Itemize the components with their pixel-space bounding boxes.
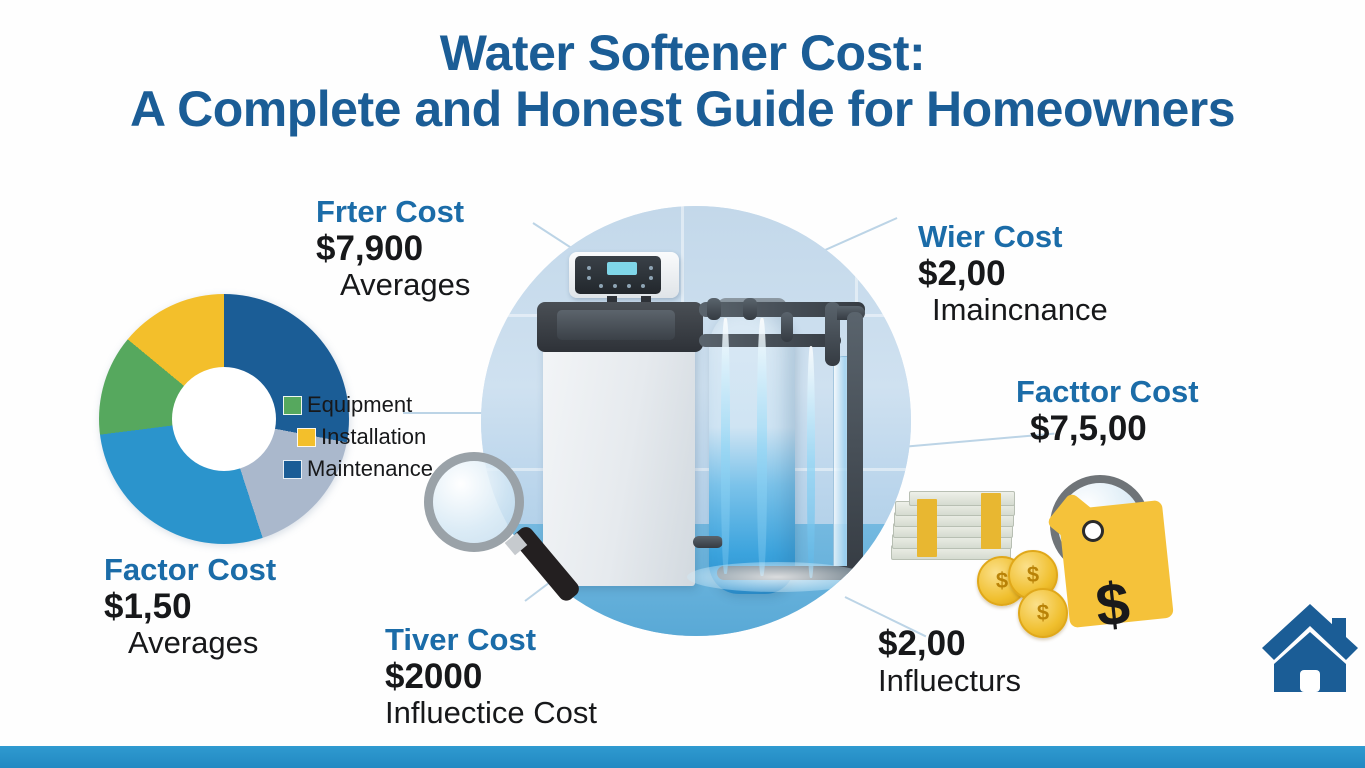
legend-label-installation: Installation bbox=[321, 424, 426, 450]
callout-heading: Wier Cost bbox=[918, 220, 1108, 255]
legend-swatch-equipment bbox=[283, 396, 302, 415]
callout-amount: $2,00 bbox=[918, 255, 1108, 294]
callout-tiver-cost: Tiver Cost $2000 Influectice Cost bbox=[385, 623, 597, 730]
callout-influencers-cost: $2,00 Influecturs bbox=[878, 625, 1021, 698]
callout-heading: Factor Cost bbox=[104, 553, 276, 588]
pipe-valve bbox=[743, 298, 757, 320]
control-led bbox=[649, 266, 653, 270]
legend-item-equipment: Equipment bbox=[283, 392, 433, 418]
title-line-1: Water Softener Cost: bbox=[0, 26, 1365, 80]
callout-amount: $2000 bbox=[385, 658, 597, 697]
title-line-2: A Complete and Honest Guide for Homeowne… bbox=[0, 80, 1365, 139]
control-button bbox=[599, 284, 603, 288]
legend-swatch-installation bbox=[297, 428, 316, 447]
callout-subtext: Influectice Cost bbox=[385, 696, 597, 730]
callout-amount: $7,5,00 bbox=[1016, 410, 1199, 449]
pipe-valve bbox=[693, 536, 723, 548]
callout-subtext: Influecturs bbox=[878, 664, 1021, 698]
callout-water-cost: Wier Cost $2,00 Imaincnance bbox=[918, 220, 1108, 327]
control-led bbox=[649, 276, 653, 280]
donut-center-hole bbox=[172, 367, 276, 471]
magnifier-lens bbox=[424, 452, 524, 552]
water-stream bbox=[757, 318, 767, 576]
callout-subtext: Averages bbox=[316, 268, 470, 302]
callout-heading: Tiver Cost bbox=[385, 623, 597, 658]
coin-dollar-sign: $ bbox=[996, 568, 1008, 594]
callout-subtext: Imaincnance bbox=[918, 293, 1108, 327]
callout-amount: $7,900 bbox=[316, 230, 470, 269]
control-led bbox=[587, 276, 591, 280]
control-led bbox=[587, 266, 591, 270]
gold-coin: $ bbox=[1018, 588, 1068, 638]
page-title: Water Softener Cost: A Complete and Hone… bbox=[0, 26, 1365, 139]
coin-dollar-sign: $ bbox=[1037, 600, 1049, 626]
water-stream bbox=[807, 346, 815, 578]
water-puddle bbox=[687, 562, 867, 592]
currency-band bbox=[981, 493, 1001, 549]
pipe-horizontal bbox=[699, 334, 841, 347]
legend-item-maintenance: Maintenance bbox=[283, 456, 433, 482]
callout-heading: Frter Cost bbox=[316, 195, 470, 230]
legend-label-maintenance: Maintenance bbox=[307, 456, 433, 482]
price-tag-hole bbox=[1082, 520, 1104, 542]
bottom-accent-bar bbox=[0, 746, 1365, 768]
brine-cabinet bbox=[543, 314, 695, 586]
control-button bbox=[641, 284, 645, 288]
callout-factor-cost-right: Facttor Cost $7,5,00 bbox=[1016, 375, 1199, 448]
chart-legend: Equipment Installation Maintenance bbox=[283, 392, 433, 488]
callout-factor-cost-left: Factor Cost $1,50 Averages bbox=[104, 553, 276, 660]
callout-heading: Facttor Cost bbox=[1016, 375, 1199, 410]
legend-swatch-maintenance bbox=[283, 460, 302, 479]
currency-band bbox=[917, 499, 937, 557]
callout-amount: $2,00 bbox=[878, 625, 1021, 664]
legend-item-installation: Installation bbox=[297, 424, 433, 450]
pipe-valve bbox=[707, 298, 721, 320]
house-icon bbox=[1258, 592, 1362, 692]
callout-subtext: Averages bbox=[104, 626, 276, 660]
pipe-vertical-drain bbox=[847, 312, 863, 582]
control-button bbox=[613, 284, 617, 288]
callout-filter-cost: Frter Cost $7,900 Averages bbox=[316, 195, 470, 302]
legend-label-equipment: Equipment bbox=[307, 392, 412, 418]
callout-amount: $1,50 bbox=[104, 588, 276, 627]
control-button bbox=[627, 284, 631, 288]
control-display-screen bbox=[607, 262, 637, 275]
infographic-canvas: Water Softener Cost: A Complete and Hone… bbox=[0, 0, 1365, 768]
price-tag-dollar-icon: $ bbox=[1092, 568, 1132, 640]
cabinet-lid-recess bbox=[557, 310, 675, 340]
pipe-vertical bbox=[781, 312, 793, 342]
coin-dollar-sign: $ bbox=[1027, 562, 1039, 588]
water-stream bbox=[721, 318, 730, 574]
